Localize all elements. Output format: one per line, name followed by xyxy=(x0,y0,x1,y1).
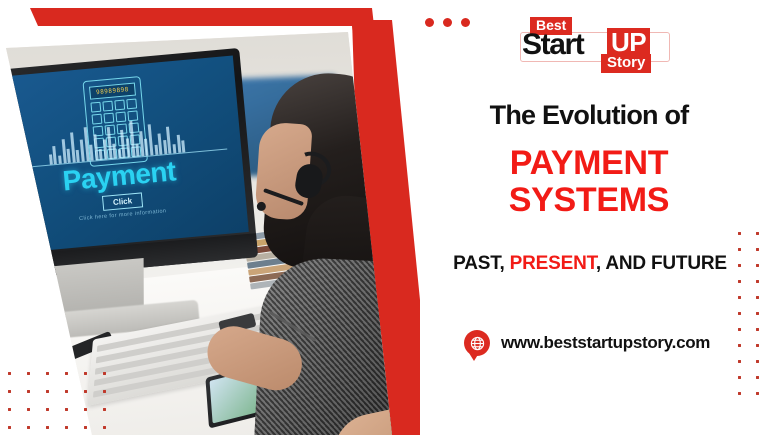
dot xyxy=(738,328,741,331)
logo-word-start: Start xyxy=(522,30,583,60)
desktop-monitor: 98989898 xyxy=(0,48,258,281)
dot xyxy=(8,372,11,375)
monitor-screen: 98989898 xyxy=(0,56,249,255)
dot xyxy=(65,390,68,393)
dot xyxy=(756,264,759,267)
dot xyxy=(84,372,87,375)
globe-icon xyxy=(464,330,490,356)
photo-stage: 98989898 xyxy=(0,0,420,435)
dot xyxy=(65,426,68,429)
dot xyxy=(738,296,741,299)
dot xyxy=(738,232,741,235)
website-row[interactable]: www.beststartupstory.com xyxy=(464,330,710,356)
dot xyxy=(8,408,11,411)
dot xyxy=(738,344,741,347)
dot xyxy=(103,408,106,411)
headline-line-1: The Evolution of xyxy=(420,100,758,131)
dot xyxy=(756,296,759,299)
headline-subtitle: PAST, PRESENT, AND FUTURE xyxy=(438,252,742,275)
dot xyxy=(65,372,68,375)
dot xyxy=(8,390,11,393)
screen-click-button[interactable]: Click xyxy=(102,192,143,211)
dot xyxy=(46,408,49,411)
dot xyxy=(443,18,452,27)
dot xyxy=(46,390,49,393)
subtitle-suffix: , AND FUTURE xyxy=(596,253,727,274)
dot xyxy=(425,18,434,27)
dot xyxy=(46,426,49,429)
dot xyxy=(84,426,87,429)
calculator-display-value: 98989898 xyxy=(96,86,129,96)
calculator-display: 98989898 xyxy=(89,83,136,100)
dot xyxy=(756,312,759,315)
dot xyxy=(27,426,30,429)
dot xyxy=(103,426,106,429)
bottomleft-dot-grid xyxy=(8,372,122,435)
dot xyxy=(738,312,741,315)
dot xyxy=(756,392,759,395)
dot xyxy=(756,376,759,379)
dot xyxy=(46,372,49,375)
dot xyxy=(756,248,759,251)
logo-word-up: UP xyxy=(607,28,650,57)
dot xyxy=(738,264,741,267)
top-dots-decoration xyxy=(425,18,470,27)
website-url[interactable]: www.beststartupstory.com xyxy=(501,333,710,353)
dot xyxy=(756,360,759,363)
dot xyxy=(84,390,87,393)
right-dot-grid xyxy=(738,232,768,408)
dot xyxy=(461,18,470,27)
dot xyxy=(756,344,759,347)
poster-canvas: 98989898 xyxy=(0,0,768,435)
dot xyxy=(738,376,741,379)
headline-line-2: PAYMENT xyxy=(420,145,758,182)
dot xyxy=(756,232,759,235)
dot xyxy=(27,390,30,393)
headline-line-3: SYSTEMS xyxy=(420,182,758,219)
dot xyxy=(65,408,68,411)
subtitle-prefix: PAST, xyxy=(453,253,510,274)
brand-logo[interactable]: Best Start UP Story xyxy=(515,14,679,76)
dot xyxy=(738,280,741,283)
dot xyxy=(738,360,741,363)
dot xyxy=(738,248,741,251)
logo-word-story: Story xyxy=(601,54,651,73)
dot xyxy=(738,392,741,395)
dot xyxy=(27,408,30,411)
subtitle-highlight: PRESENT xyxy=(510,253,596,274)
dot xyxy=(103,390,106,393)
dot xyxy=(103,372,106,375)
dot xyxy=(8,426,11,429)
text-column: Best Start UP Story The Evolution of PAY… xyxy=(420,0,768,435)
dot xyxy=(84,408,87,411)
dot xyxy=(756,328,759,331)
dot xyxy=(27,372,30,375)
headline-main: PAYMENT SYSTEMS xyxy=(420,145,758,220)
dot xyxy=(756,280,759,283)
